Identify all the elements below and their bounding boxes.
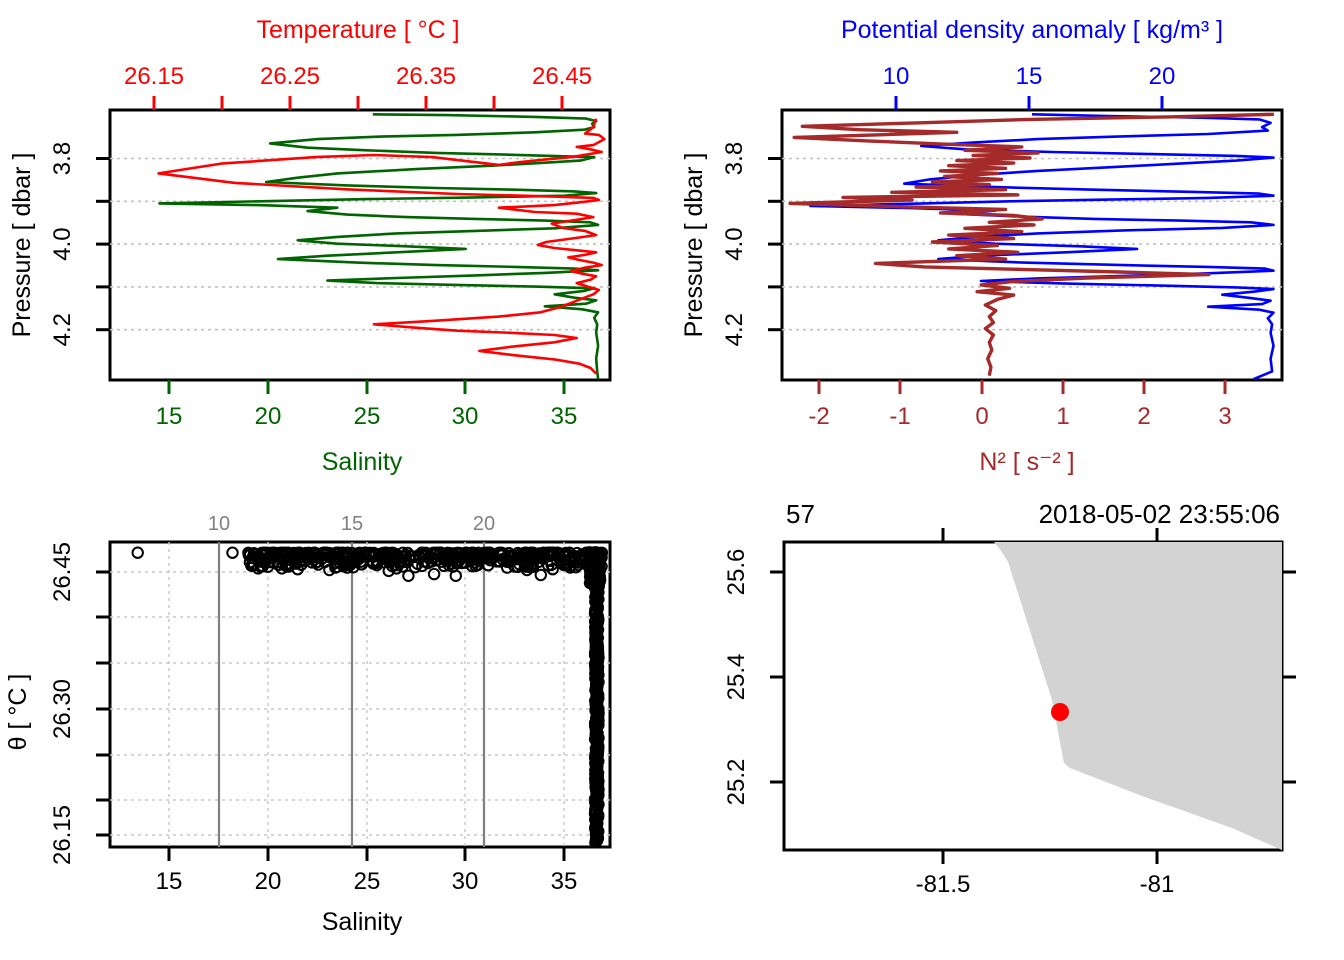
salinity-axis-title: Salinity: [322, 448, 403, 476]
theta-axis-title: θ [ °C ]: [4, 674, 32, 751]
longitude-axis-labels: -81.5 -81: [916, 871, 1175, 898]
latitude-axis-labels: 25.6 25.4 25.2: [723, 549, 750, 806]
panel-theta-salinity-diagram: Salinity θ [ °C ]: [0, 480, 672, 960]
pressure-tick-label: 4.2: [49, 313, 76, 346]
salinity-tick-label: 30: [452, 868, 479, 895]
theta-axis-labels: 26.45 26.30 26.15: [49, 542, 76, 865]
isopycnal-label: 15: [341, 513, 363, 535]
n2-axis-title: N² [ s⁻² ]: [979, 448, 1074, 476]
salinity-tick-label: 35: [551, 403, 578, 430]
salinity-tick-label: 25: [354, 403, 381, 430]
salinity-tick-label: 15: [156, 868, 183, 895]
tr-svg: Potential density anomaly [ kg/m³ ] N² […: [672, 0, 1344, 480]
density-tick-label: 10: [883, 63, 910, 90]
pressure-axis-labels-right: 3.8 4.0 4.2: [721, 142, 748, 347]
station-timestamp-label: 2018-05-02 23:55:06: [1039, 499, 1280, 529]
bl-svg: Salinity θ [ °C ]: [0, 480, 672, 960]
temperature-axis-labels: 26.15 26.25 26.35 26.45: [124, 63, 592, 90]
isopycnal-label: 20: [473, 513, 495, 535]
salinity-axis-ticks: [169, 380, 564, 394]
density-axis-labels: 10 15 20: [883, 63, 1176, 90]
br-svg: 57 2018-05-02 23:55:06 -81.5 -81: [672, 480, 1344, 960]
n2-tick-label: -1: [889, 403, 910, 430]
latitude-tick-label: 25.4: [723, 654, 750, 701]
density-axis-title-text: Potential density anomaly [ kg/m³ ]: [841, 16, 1223, 44]
temperature-tick-label: 26.45: [532, 63, 592, 90]
n2-tick-label: 1: [1056, 403, 1069, 430]
theta-axis-ticks: [96, 572, 110, 835]
n2-tick-label: 2: [1137, 403, 1150, 430]
salinity-tick-label: 20: [255, 403, 282, 430]
plot-frame: [110, 542, 610, 847]
salinity-tick-label: 20: [255, 868, 282, 895]
salinity-axis-labels-bl: 15 20 25 30 35: [156, 868, 578, 895]
longitude-tick-label: -81: [1140, 871, 1175, 898]
longitude-tick-label: -81.5: [916, 871, 971, 898]
isopycnal-labels: 10 15 20: [208, 513, 495, 535]
isopycnal-label: 10: [208, 513, 230, 535]
panel-density-n2-profile: Potential density anomaly [ kg/m³ ] N² […: [672, 0, 1344, 480]
temperature-tick-label: 26.35: [396, 63, 456, 90]
n2-tick-label: -2: [808, 403, 829, 430]
pressure-tick-label: 4.0: [49, 227, 76, 260]
pressure-axis-title-right: Pressure [ dbar ]: [680, 153, 708, 338]
salinity-tick-label: 25: [354, 868, 381, 895]
temperature-axis-title: Temperature [ °C ]: [256, 16, 459, 44]
theta-tick-label: 26.45: [49, 542, 76, 602]
pressure-axis-title-left: Pressure [ dbar ]: [8, 153, 36, 338]
temperature-tick-label: 26.25: [260, 63, 320, 90]
density-tick-label: 20: [1149, 63, 1176, 90]
panel-temperature-salinity-profile: Temperature [ °C ] Salinity Pressure [ d…: [0, 0, 672, 480]
pressure-axis-ticks-left: [96, 159, 110, 330]
salinity-axis-labels: 15 20 25 30 35: [156, 403, 578, 430]
salinity-tick-label: 35: [551, 868, 578, 895]
salinity-tick-label: 15: [156, 403, 183, 430]
n2-tick-label: 0: [975, 403, 988, 430]
salinity-axis-ticks-bl: [169, 847, 564, 861]
pressure-tick-label: 4.0: [721, 227, 748, 260]
n2-tick-label: 3: [1218, 403, 1231, 430]
pressure-tick-label: 3.8: [721, 142, 748, 175]
theta-tick-label: 26.15: [49, 805, 76, 865]
n2-axis-title-text: N² [ s⁻² ]: [979, 448, 1074, 476]
pressure-tick-label: 3.8: [49, 142, 76, 175]
pressure-axis-labels-left: 3.8 4.0 4.2: [49, 142, 76, 347]
station-number-label: 57: [786, 499, 815, 529]
pressure-tick-label: 4.2: [721, 313, 748, 346]
density-tick-label: 15: [1016, 63, 1043, 90]
latitude-tick-label: 25.6: [723, 549, 750, 596]
salinity-axis-title-bl: Salinity: [322, 908, 403, 936]
panel-station-map: 57 2018-05-02 23:55:06 -81.5 -81: [672, 480, 1344, 960]
pressure-axis-ticks-right: [768, 159, 782, 330]
theta-tick-label: 26.30: [49, 679, 76, 739]
temperature-axis-ticks: [154, 96, 562, 110]
latitude-tick-label: 25.2: [723, 759, 750, 806]
station-marker: [1051, 703, 1069, 721]
density-axis-ticks: [896, 96, 1162, 110]
density-axis-title: Potential density anomaly [ kg/m³ ]: [841, 16, 1223, 44]
temperature-tick-label: 26.15: [124, 63, 184, 90]
salinity-tick-label: 30: [452, 403, 479, 430]
tl-svg: Temperature [ °C ] Salinity Pressure [ d…: [0, 0, 672, 480]
n2-axis-ticks: [819, 380, 1225, 394]
n2-axis-labels: -2 -1 0 1 2 3: [808, 403, 1231, 430]
